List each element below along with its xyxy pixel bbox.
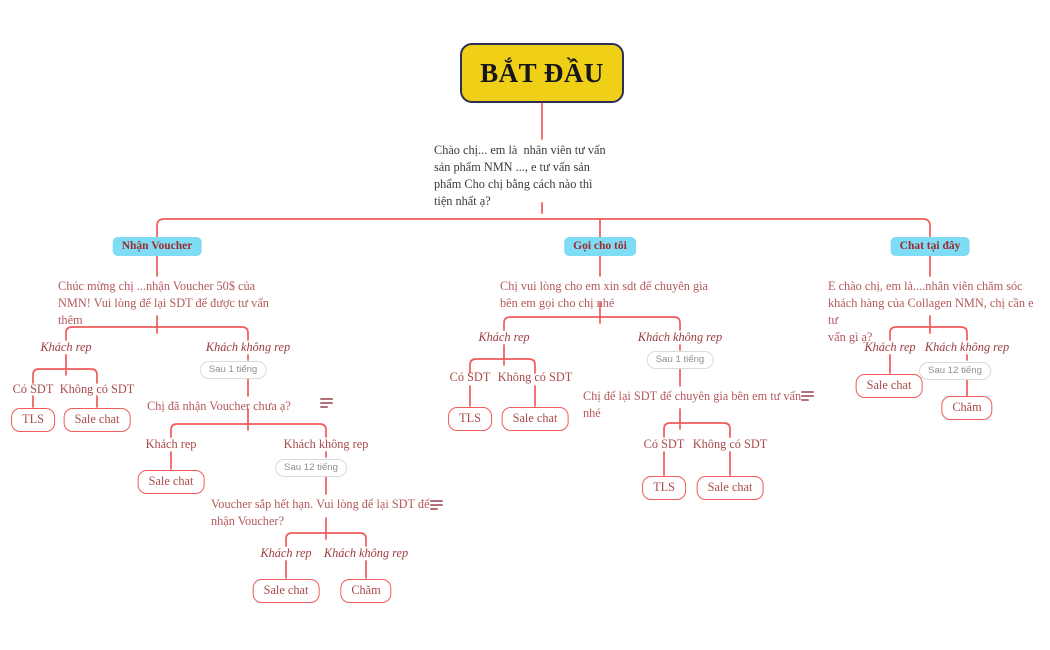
branch-badge-goi-cho-toi[interactable]: Gọi cho tôi [564,236,636,256]
note-lines-icon[interactable] [320,398,333,409]
terminal-label: TLS [642,476,686,500]
terminal-label: Sale chat [253,579,320,603]
branch3-condition-khach-khong-rep[interactable]: Khách không rep [925,340,1009,355]
branch2-sub-khong-co-sdt-label[interactable]: Không có SDT [693,437,767,452]
branch1-followup-message[interactable]: Chị đã nhận Voucher chưa ạ? [147,398,327,415]
terminal-label: TLS [448,407,492,431]
branch-badge-label: Chat tại đây [891,237,970,256]
branch3-message[interactable]: E chào chị, em là....nhân viên chăm sóc … [828,278,1042,346]
delay-pill-label: Sau 1 tiếng [647,351,714,369]
branch2-condition-khach-khong-rep[interactable]: Khách không rep [638,330,722,345]
terminal-label: Sale chat [697,476,764,500]
branch1-sub-condition-khach-khong-rep[interactable]: Khách không rep [284,437,369,452]
mindmap-canvas: BẮT ĐẦU Chào chị... em là nhân viên tư v… [0,0,1050,650]
branch2-sub-co-sdt-label[interactable]: Có SDT [644,437,685,452]
branch2-condition-khach-rep[interactable]: Khách rep [478,330,529,345]
branch2-sub-terminal-tls[interactable]: TLS [642,476,686,500]
branch1-leaf-terminal-sale-chat[interactable]: Sale chat [253,579,320,603]
branch1-leaf-condition-khach-rep[interactable]: Khách rep [260,546,311,561]
branch2-terminal-sale-chat[interactable]: Sale chat [502,407,569,431]
note-lines-icon[interactable] [801,391,814,402]
delay-pill-label: Sau 12 tiếng [275,459,347,477]
branch2-co-sdt-label[interactable]: Có SDT [450,370,491,385]
branch3-terminal-sale-chat[interactable]: Sale chat [856,374,923,398]
branch-badge-nhan-voucher[interactable]: Nhận Voucher [113,236,202,256]
delay-pill-label: Sau 1 tiếng [200,361,267,379]
branch1-voucher-expiry-message[interactable]: Voucher sắp hết hạn. Vui lòng để lại SDT… [211,496,439,530]
branch1-sub-condition-khach-rep[interactable]: Khách rep [146,437,197,452]
branch1-terminal-tls[interactable]: TLS [11,408,55,432]
root-message[interactable]: Chào chị... em là nhân viên tư vấn sản p… [434,142,694,210]
branch3-terminal-cham[interactable]: Chăm [941,396,992,420]
start-node[interactable]: BẮT ĐẦU [460,43,624,103]
delay-pill-label: Sau 12 tiếng [919,362,991,380]
branch2-followup-message[interactable]: Chị để lại SDT để chuyên gia bên em tư v… [583,388,805,422]
branch1-khong-co-sdt-label[interactable]: Không có SDT [60,382,134,397]
branch2-delay-pill-1h[interactable]: Sau 1 tiếng [647,349,714,369]
terminal-label: Sale chat [502,407,569,431]
branch2-terminal-tls[interactable]: TLS [448,407,492,431]
branch1-terminal-sale-chat[interactable]: Sale chat [64,408,131,432]
branch-badge-label: Gọi cho tôi [564,237,636,256]
branch-badge-chat-tai-day[interactable]: Chat tại đây [891,236,970,256]
branch1-leaf-condition-khach-khong-rep[interactable]: Khách không rep [324,546,408,561]
branch1-leaf-terminal-cham[interactable]: Chăm [340,579,391,603]
branch1-delay-pill-12h[interactable]: Sau 12 tiếng [275,457,347,477]
branch2-message[interactable]: Chị vui lòng cho em xin sdt để chuyên gi… [500,278,740,312]
terminal-label: Sale chat [64,408,131,432]
terminal-label: Sale chat [138,470,205,494]
terminal-label: Sale chat [856,374,923,398]
branch1-delay-pill-1h[interactable]: Sau 1 tiếng [200,359,267,379]
terminal-label: Chăm [941,396,992,420]
branch1-condition-khach-rep[interactable]: Khách rep [40,340,91,355]
start-node-label: BẮT ĐẦU [480,60,604,87]
branch3-condition-khach-rep[interactable]: Khách rep [864,340,915,355]
terminal-label: TLS [11,408,55,432]
branch1-co-sdt-label[interactable]: Có SDT [13,382,54,397]
terminal-label: Chăm [340,579,391,603]
branch3-delay-pill-12h[interactable]: Sau 12 tiếng [919,360,991,380]
branch2-sub-terminal-sale-chat[interactable]: Sale chat [697,476,764,500]
branch2-khong-co-sdt-label[interactable]: Không có SDT [498,370,572,385]
branch1-sub-terminal-sale-chat[interactable]: Sale chat [138,470,205,494]
branch-badge-label: Nhận Voucher [113,237,202,256]
branch1-condition-khach-khong-rep[interactable]: Khách không rep [206,340,290,355]
note-lines-icon[interactable] [430,500,443,511]
branch1-message[interactable]: Chúc mừng chị ...nhận Voucher 50$ của NM… [58,278,298,329]
